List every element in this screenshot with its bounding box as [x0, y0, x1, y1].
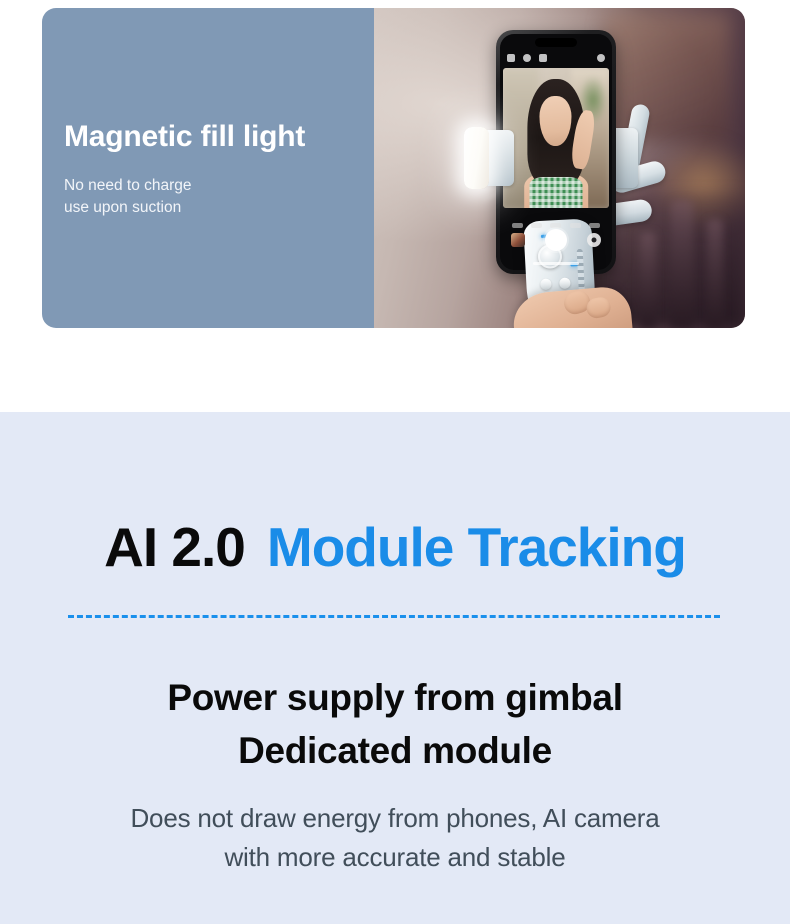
hanging-garment — [707, 219, 723, 328]
promo-heading: AI 2.0Module Tracking — [0, 520, 790, 575]
promo-sub-headline-line-2: Dedicated module — [0, 725, 790, 778]
feature-copy-block: Magnetic fill light No need to charge us… — [64, 120, 360, 219]
filter-icon — [539, 54, 547, 62]
settings-icon — [597, 54, 605, 62]
ai-tracking-promo-section: AI 2.0Module Tracking Power supply from … — [0, 412, 790, 924]
promo-heading-dark: AI 2.0 — [104, 516, 245, 578]
smartphone — [496, 30, 616, 274]
fill-light-feature-section: Magnetic fill light No need to charge us… — [0, 0, 790, 412]
feature-card: Magnetic fill light No need to charge us… — [42, 8, 745, 328]
feature-title: Magnetic fill light — [64, 120, 360, 153]
feature-copy-panel: Magnetic fill light No need to charge us… — [42, 8, 374, 328]
wall-picture-frame — [604, 14, 730, 142]
feature-subtitle-line-2: use upon suction — [64, 197, 360, 219]
handle-button — [559, 277, 571, 289]
phone-notch — [535, 38, 577, 47]
hanging-garment — [640, 232, 656, 328]
subject-checkered-top — [530, 177, 583, 208]
phone-screen — [500, 34, 612, 270]
gallery-thumbnail — [511, 233, 525, 247]
promo-sub-headline-line-1: Power supply from gimbal — [0, 672, 790, 725]
home-indicator — [533, 262, 579, 265]
promo-body-line-2: with more accurate and stable — [0, 838, 790, 877]
camera-top-controls — [500, 52, 612, 64]
promo-sub-headline: Power supply from gimbal Dedicated modul… — [0, 672, 790, 777]
promo-body-line-1: Does not draw energy from phones, AI cam… — [0, 799, 790, 838]
promo-heading-accent: Module Tracking — [267, 516, 686, 578]
flash-icon — [507, 54, 515, 62]
dashed-divider — [68, 615, 720, 618]
handle-button — [540, 278, 552, 290]
feature-subtitle: No need to charge use upon suction — [64, 175, 360, 219]
hanging-garment — [671, 200, 693, 328]
camera-bottom-controls — [500, 226, 612, 254]
feature-subtitle-line-1: No need to charge — [64, 175, 360, 197]
product-photo — [374, 8, 745, 328]
magnetic-fill-light-icon — [464, 127, 489, 189]
flip-camera-icon — [587, 233, 601, 247]
camera-viewfinder — [503, 68, 609, 208]
timer-icon — [523, 54, 531, 62]
shutter-button — [545, 229, 567, 251]
product-marketing-page: Magnetic fill light No need to charge us… — [0, 0, 790, 924]
promo-body-copy: Does not draw energy from phones, AI cam… — [0, 799, 790, 877]
